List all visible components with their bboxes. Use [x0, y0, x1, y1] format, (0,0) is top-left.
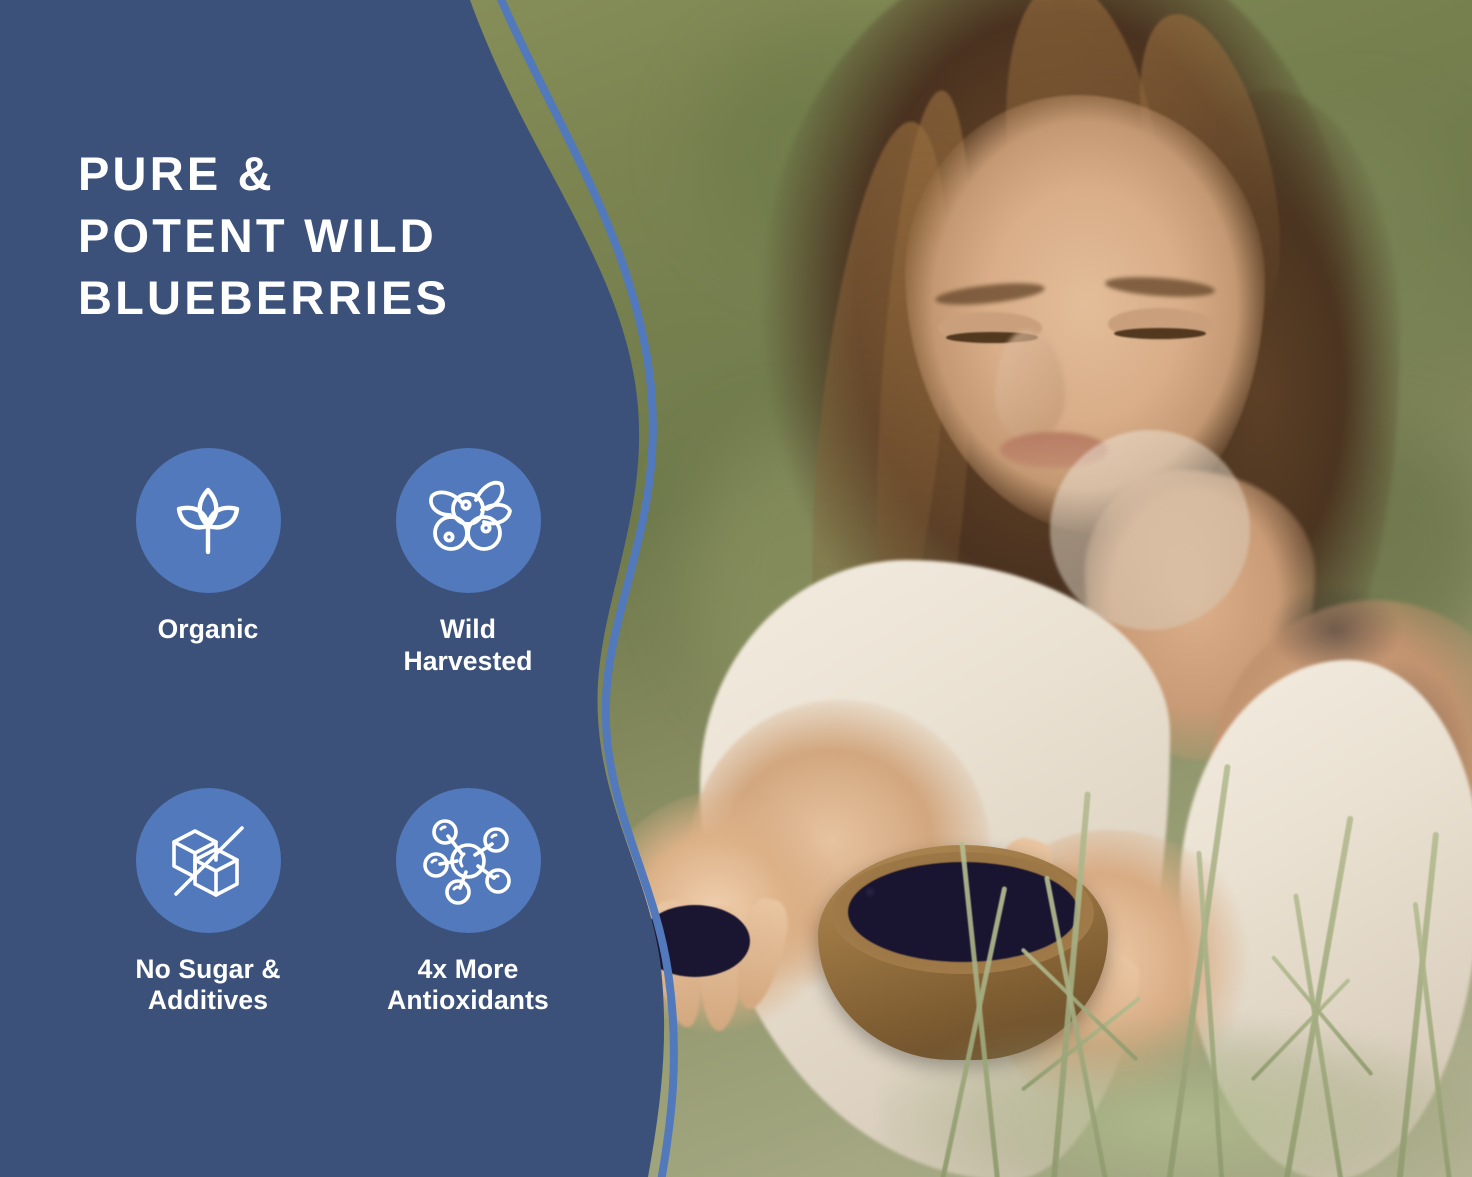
berries-icon: [422, 478, 514, 564]
feature-organic[interactable]: Organic: [78, 448, 338, 678]
leaf-plant-icon: [165, 478, 251, 564]
twig: [1413, 902, 1453, 1177]
feature-label: No Sugar & Additives: [135, 954, 280, 1018]
headline-line-2: POTENT WILD: [78, 205, 638, 267]
feature-label-line: Antioxidants: [387, 985, 549, 1017]
feature-label: Wild Harvested: [403, 614, 532, 678]
feature-antioxidants[interactable]: 4x More Antioxidants: [338, 788, 598, 1018]
feature-icon-badge: [136, 788, 281, 933]
feature-label-line: Organic: [158, 614, 259, 644]
feature-icon-badge: [136, 448, 281, 593]
feature-icon-badge: [396, 448, 541, 593]
promo-banner: PURE & POTENT WILD BLUEBERRIES: [0, 0, 1472, 1177]
twig: [1165, 764, 1231, 1177]
feature-wild-harvested[interactable]: Wild Harvested: [338, 448, 598, 678]
eye-closed: [1114, 328, 1206, 339]
dress-detail: [1050, 430, 1250, 630]
feature-grid: Organic: [78, 448, 598, 1017]
feature-label: 4x More Antioxidants: [387, 954, 549, 1018]
twig: [1280, 815, 1354, 1177]
feature-row: No Sugar & Additives: [78, 788, 598, 1018]
panel-content: PURE & POTENT WILD BLUEBERRIES: [0, 0, 700, 1177]
feature-label-line: No Sugar &: [135, 954, 280, 986]
feature-label-line: Additives: [135, 985, 280, 1017]
feature-icon-badge: [396, 788, 541, 933]
feature-row: Organic: [78, 448, 598, 678]
page-title: PURE & POTENT WILD BLUEBERRIES: [78, 143, 638, 329]
headline-line-1: PURE &: [78, 143, 638, 205]
feature-label-line: Harvested: [403, 646, 532, 678]
feature-label: Organic: [158, 614, 259, 646]
feature-no-sugar[interactable]: No Sugar & Additives: [78, 788, 338, 1018]
twig: [959, 842, 1000, 1177]
twig: [1395, 832, 1439, 1177]
no-sugar-cubes-icon: [162, 814, 254, 906]
feature-label-line: Wild: [403, 614, 532, 646]
molecule-icon: [422, 814, 514, 906]
headline-line-3: BLUEBERRIES: [78, 267, 638, 329]
wild-plant-twigs: [900, 640, 1472, 1177]
feature-label-line: 4x More: [387, 954, 549, 986]
